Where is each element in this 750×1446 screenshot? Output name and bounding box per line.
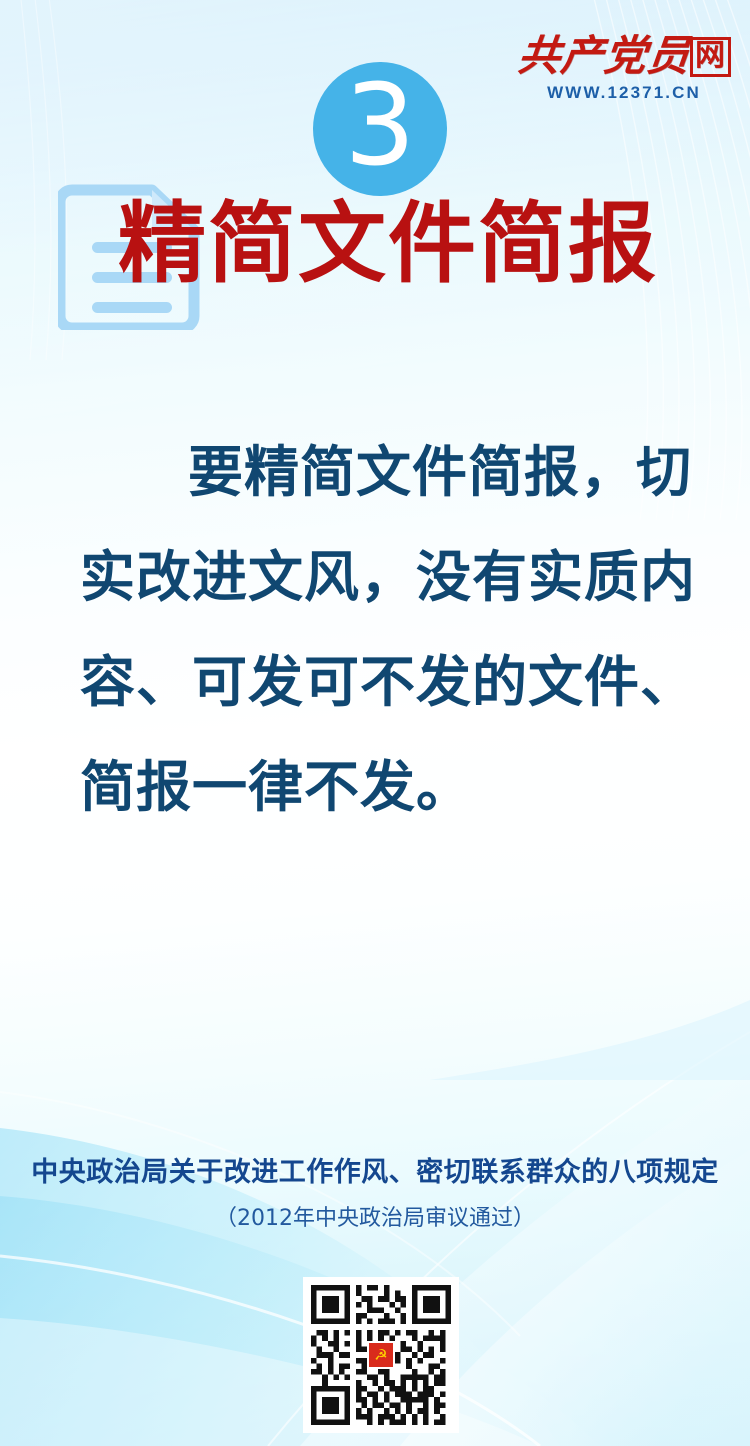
logo-wordmark: 共产党员网 (516, 34, 733, 80)
body-line-3: 容、可发可不发的文件、 (80, 630, 680, 735)
logo-boxed-char: 网 (690, 37, 731, 77)
site-logo[interactable]: 共产党员网 WWW.12371.CN (518, 34, 730, 103)
footer-regulation-subtitle: （2012年中央政治局审议通过） (0, 1205, 750, 1233)
qr-center-party-emblem: ☭ (367, 1341, 395, 1369)
footer-regulation-title: 中央政治局关于改进工作作风、密切联系群众的八项规定 (0, 1156, 750, 1190)
qr-code[interactable]: ☭ (303, 1277, 459, 1433)
poster-canvas: 共产党员网 WWW.12371.CN 3 精简文件简报 要精简文件简报，切 实改… (0, 0, 750, 1446)
body-line-2: 实改进文风，没有实质内 (80, 525, 680, 630)
page-title: 精简文件简报 (118, 196, 678, 292)
body-line-4: 简报一律不发。 (80, 735, 680, 840)
section-number-badge: 3 (313, 62, 447, 196)
section-number: 3 (344, 70, 415, 182)
logo-url: WWW.12371.CN (518, 83, 730, 103)
party-emblem-glyph: ☭ (374, 1348, 387, 1363)
logo-text: 共产党员 (516, 34, 693, 80)
body-text-block: 要精简文件简报，切 实改进文风，没有实质内 容、可发可不发的文件、 简报一律不发… (80, 420, 680, 840)
body-line-1: 要精简文件简报，切 (80, 420, 680, 525)
